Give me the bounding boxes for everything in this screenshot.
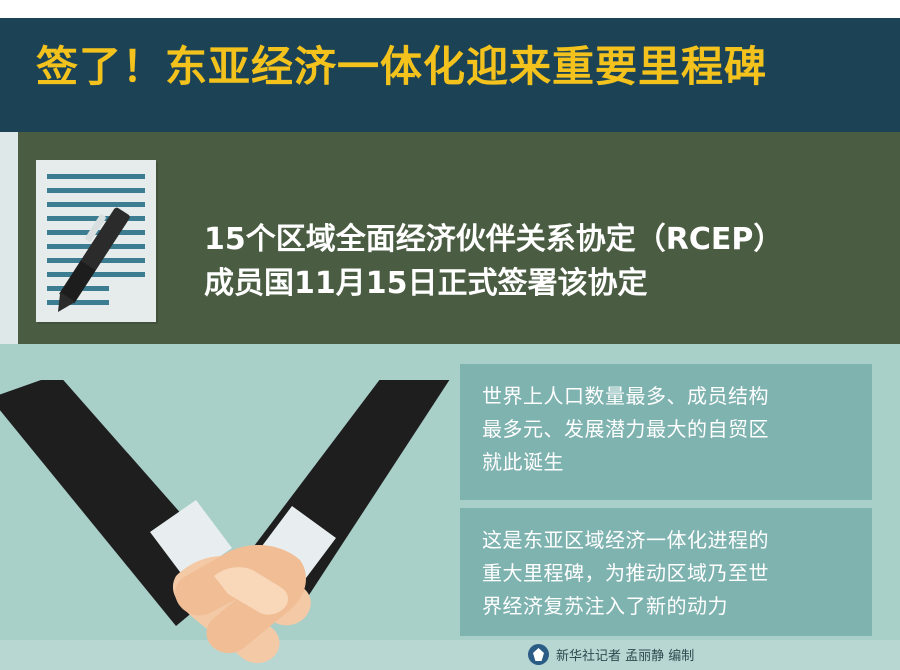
xinhua-logo-icon bbox=[528, 644, 549, 665]
headline-block: 15个区域全面经济伙伴关系协定（RCEP） 成员国11月15日正式签署该协定 bbox=[204, 218, 884, 306]
credit-text: 新华社记者 孟丽静 编制 bbox=[556, 645, 694, 664]
panel-1-line-3: 就此诞生 bbox=[482, 446, 850, 479]
left-edge-strip bbox=[0, 132, 18, 344]
handshake-illustration bbox=[0, 380, 470, 670]
page-title: 签了！东亚经济一体化迎来重要里程碑 bbox=[36, 33, 876, 94]
credit-line: 新华社记者 孟丽静 编制 bbox=[528, 644, 694, 665]
headline-line-1: 15个区域全面经济伙伴关系协定（RCEP） bbox=[204, 218, 884, 262]
panel-2-line-3: 界经济复苏注入了新的动力 bbox=[482, 590, 850, 623]
panel-2-line-1: 这是东亚区域经济一体化进程的 bbox=[482, 524, 850, 557]
panel-1-line-1: 世界上人口数量最多、成员结构 bbox=[482, 380, 850, 413]
infographic-poster: 签了！东亚经济一体化迎来重要里程碑 15个区域全面经济伙伴关系协定（RCEP） … bbox=[0, 0, 900, 670]
panel-1-line-2: 最多元、发展潜力最大的自贸区 bbox=[482, 413, 850, 446]
headline-line-2: 成员国11月15日正式签署该协定 bbox=[204, 262, 884, 306]
info-panel-2: 这是东亚区域经济一体化进程的 重大里程碑，为推动区域乃至世 界经济复苏注入了新的… bbox=[460, 508, 872, 636]
panel-2-line-2: 重大里程碑，为推动区域乃至世 bbox=[482, 557, 850, 590]
info-panel-1: 世界上人口数量最多、成员结构 最多元、发展潜力最大的自贸区 就此诞生 bbox=[460, 364, 872, 500]
